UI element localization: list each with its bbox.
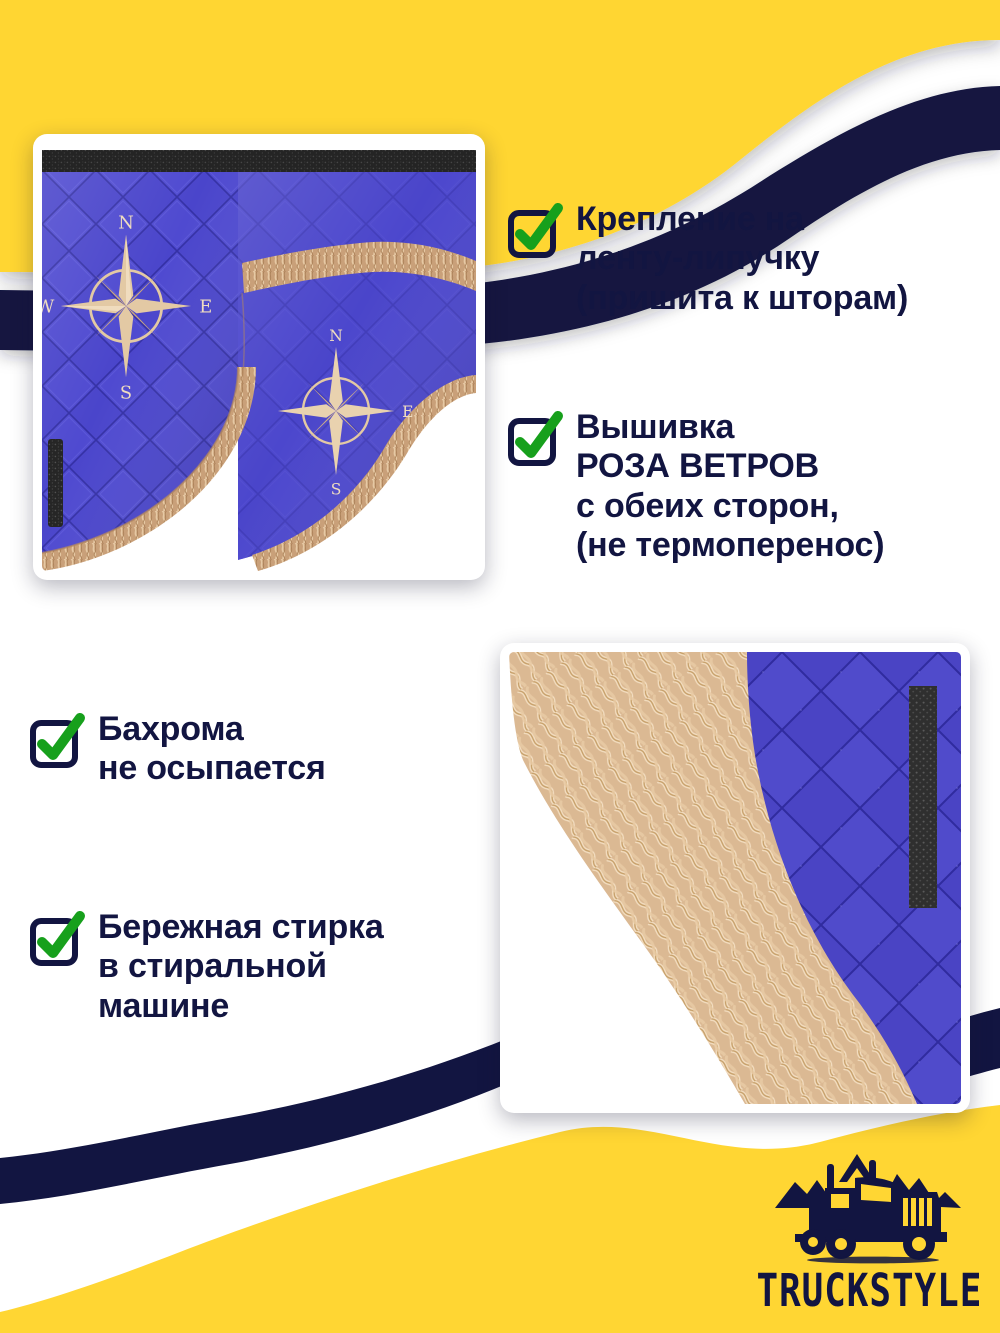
feature-label: Бережная стирка в стиральной машине [98, 908, 384, 1026]
feature-label: Крепление на ленту-липучку (пришита к шт… [576, 200, 908, 318]
velcro-strip-top [42, 150, 476, 172]
compass-label-n: N [329, 327, 343, 345]
check-box-icon [30, 912, 84, 966]
fringe-closeup-photo [509, 652, 961, 1104]
check-box-icon [30, 714, 84, 768]
compass-label-e: E [402, 403, 413, 421]
feature-label: Бахрома не осыпается [98, 710, 326, 789]
compass-label-s: S [331, 480, 342, 498]
feature-item-fringe: Бахрома не осыпается [30, 710, 480, 789]
semi-truck-mountains-icon [769, 1148, 969, 1266]
feature-label: Вышивка РОЗА ВЕТРОВ с обеих сторон, (не … [576, 408, 884, 566]
check-box-icon [508, 412, 562, 466]
check-box-icon [508, 204, 562, 258]
feature-item-embroidery: Вышивка РОЗА ВЕТРОВ с обеих сторон, (не … [508, 408, 988, 566]
feature-item-wash: Бережная стирка в стиральной машине [30, 908, 480, 1026]
velcro-strip [909, 686, 937, 908]
compass-label-w: W [42, 296, 55, 317]
brand-logo[interactable]: TRUCKSTYLE [760, 1148, 978, 1318]
truck-curtains-photo-card[interactable]: N E S W N [33, 134, 485, 580]
compass-label-e: E [199, 296, 212, 317]
feature-item-velcro: Крепление на ленту-липучку (пришита к шт… [508, 200, 988, 318]
truck-curtains-photo: N E S W N [42, 143, 476, 571]
fringe-closeup-photo-card[interactable] [500, 643, 970, 1113]
compass-label-n: N [118, 212, 134, 233]
velcro-tab-side [48, 439, 63, 527]
compass-label-s: S [120, 382, 132, 403]
brand-wordmark: TRUCKSTYLE [756, 1268, 982, 1313]
